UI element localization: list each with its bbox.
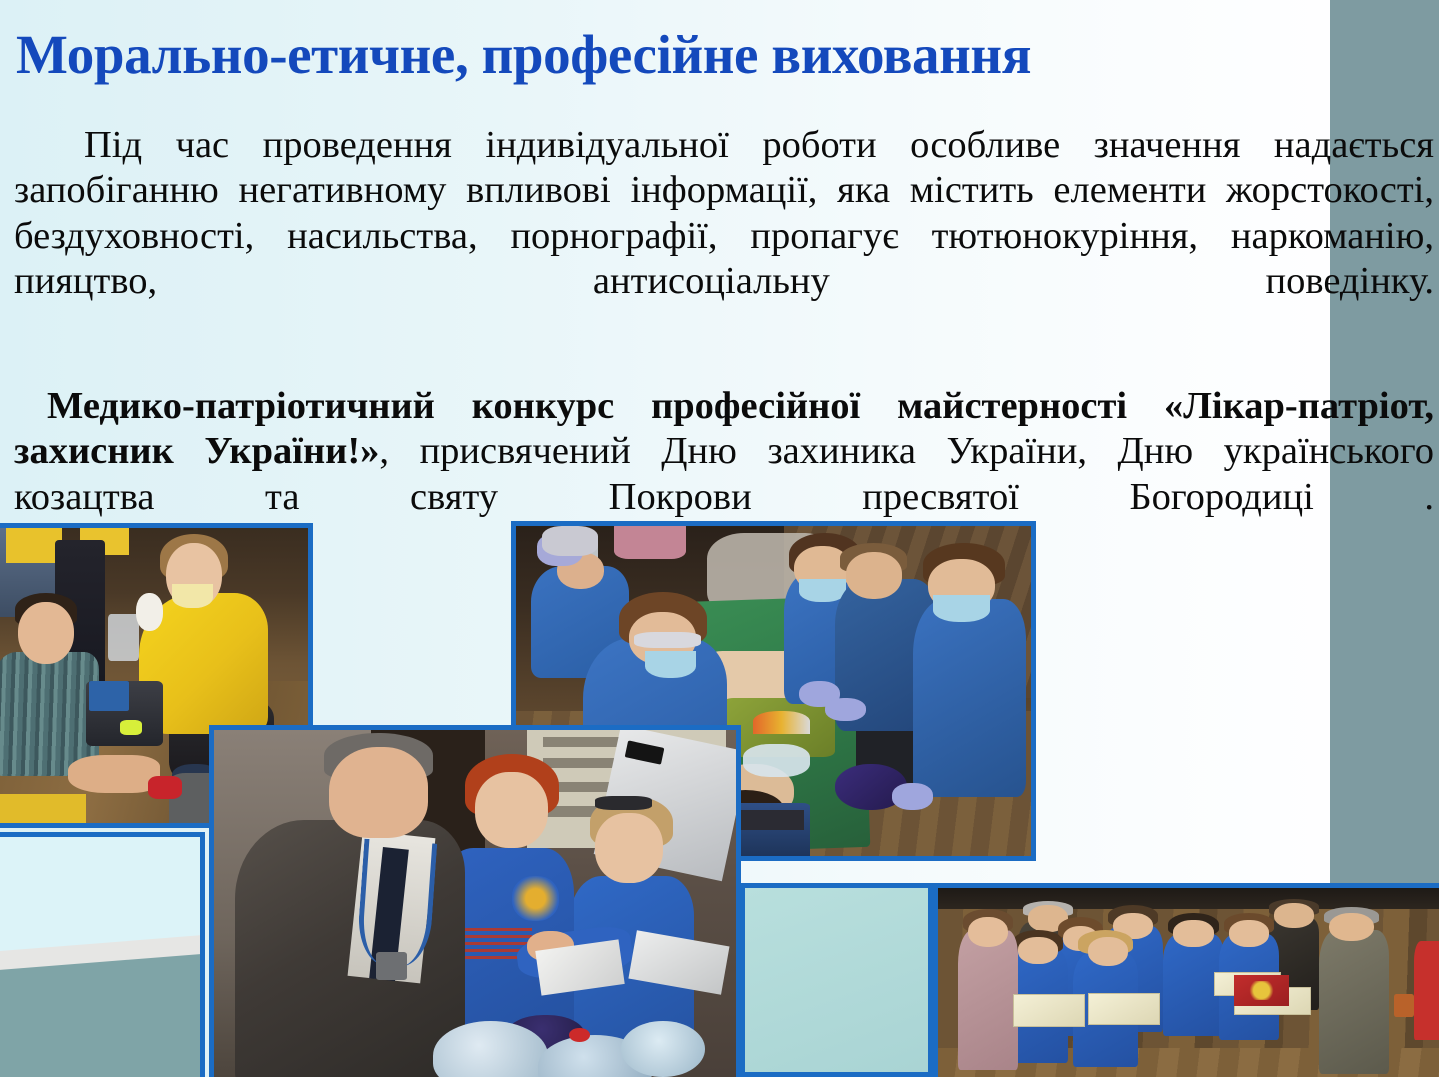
text-layer: Морально-етичне, професійне виховання Пі…: [0, 0, 1439, 525]
photo-award-group: [933, 883, 1439, 1077]
photo-award-group-content: [938, 888, 1439, 1077]
paragraph-one: Під час проведення індивідуальної роботи…: [14, 123, 1434, 350]
photo-empty-placeholder-content: [745, 888, 928, 1072]
photo-hall-wall-content: [0, 837, 200, 1077]
photo-hall-wall: [0, 832, 205, 1077]
slide-canvas: Морально-етичне, професійне виховання Пі…: [0, 0, 1439, 1077]
photo-instructor-briefing: [209, 725, 741, 1077]
page-title: Морально-етичне, професійне виховання: [16, 26, 1436, 83]
photo-empty-placeholder: [740, 883, 933, 1077]
photo-instructor-briefing-content: [214, 730, 736, 1077]
